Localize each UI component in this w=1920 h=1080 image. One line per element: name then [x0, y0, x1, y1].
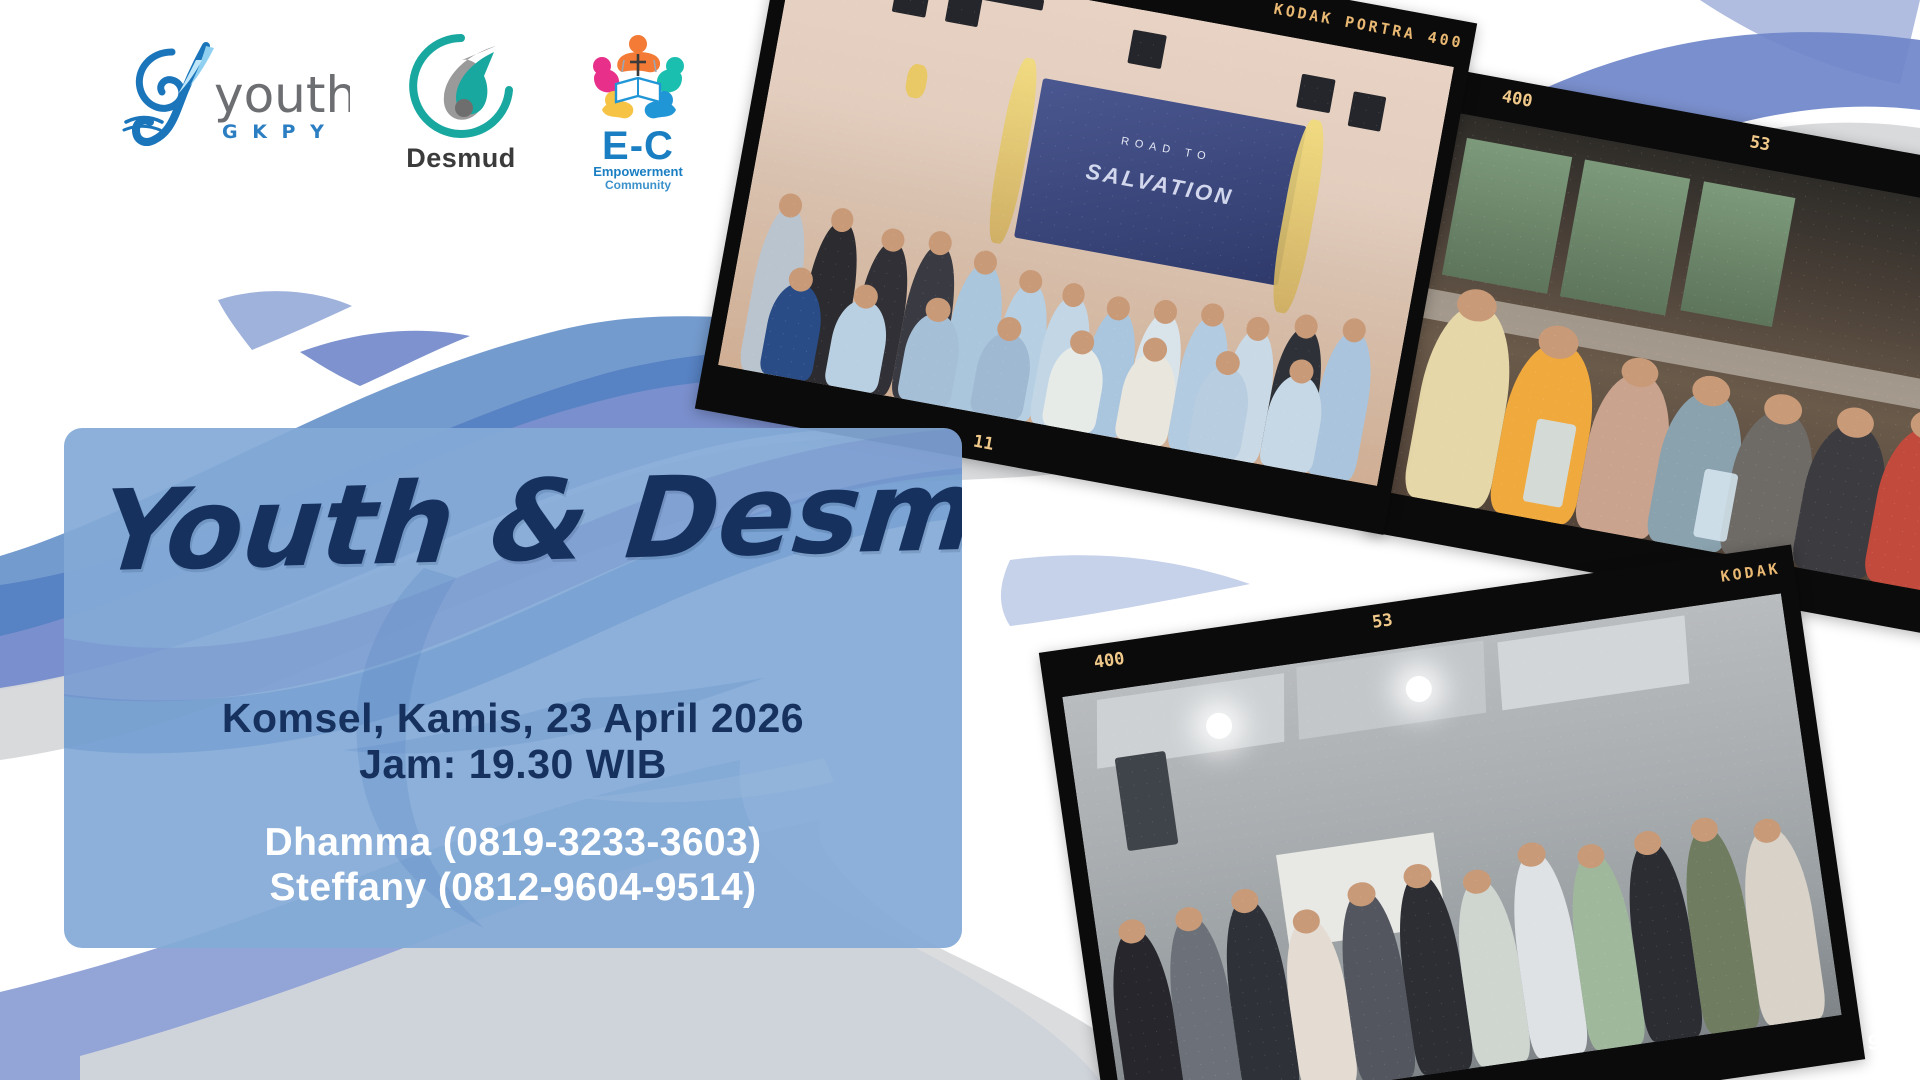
page-number: 9 — [1868, 1030, 1880, 1056]
photo-room-group: 400 53 KODAK — [1039, 544, 1865, 1080]
film-iso-label: 400 — [1500, 87, 1534, 112]
gkpy-subtext: G K P Y — [222, 121, 328, 143]
film-brand-label: KODAK — [1719, 559, 1781, 585]
desmud-wordmark: Desmud — [396, 143, 526, 174]
event-time-line: Jam: 19.30 WIB — [64, 742, 962, 788]
youth-gkpy-mark: youth G K P Y — [110, 30, 350, 160]
contact-list: Dhamma (0819-3233-3603) Steffany (0812-9… — [64, 820, 962, 910]
poster-canvas: youth G K P Y Desmud — [0, 0, 1920, 1080]
ec-empowerment-logo: E-C Empowerment Community — [572, 30, 704, 182]
contact-steffany: Steffany (0812-9604-9514) — [64, 865, 962, 910]
film-frame-number-top: 53 — [1748, 132, 1772, 155]
youth-gkpy-logo: youth G K P Y — [110, 30, 350, 160]
film-frame-number-top: 53 — [1371, 610, 1394, 633]
ec-subtext-community: Community — [572, 179, 704, 191]
film-iso-label: 400 — [1093, 649, 1126, 673]
youth-wordmark: youth — [214, 66, 350, 124]
ec-people-book-mark — [572, 30, 704, 122]
desmud-mark — [396, 30, 526, 142]
logo-row: youth G K P Y Desmud — [110, 30, 704, 182]
event-meta: Komsel, Kamis, 23 April 2026 Jam: 19.30 … — [64, 696, 962, 788]
desmud-logo: Desmud — [396, 30, 526, 180]
contact-dhamma: Dhamma (0819-3233-3603) — [64, 820, 962, 865]
film-frame-number-bottom: 11 — [972, 432, 996, 455]
event-date-line: Komsel, Kamis, 23 April 2026 — [64, 696, 962, 742]
ec-subtext-empowerment: Empowerment — [572, 165, 704, 179]
page-title: Youth & Desmud — [95, 456, 938, 588]
event-info-card: Youth & Desmud Komsel, Kamis, 23 April 2… — [64, 428, 962, 948]
ec-wordmark: E-C — [572, 127, 704, 165]
